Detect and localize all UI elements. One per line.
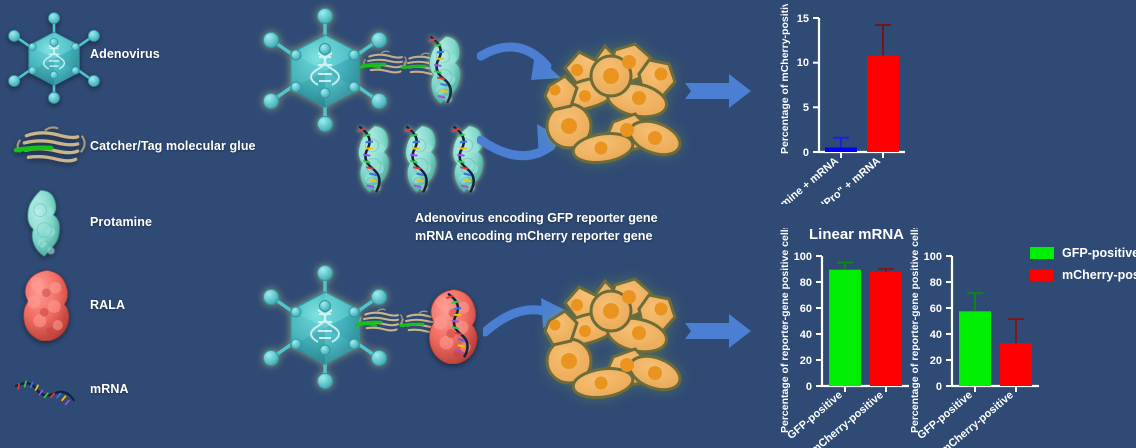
legend-entry-gfp: GFP-positive bbox=[1030, 244, 1136, 261]
legend-label-gfp: GFP-positive bbox=[1062, 246, 1136, 260]
legend-label-mcherry: mCherry-positive bbox=[1062, 268, 1136, 282]
chart1-bar-adpro bbox=[867, 56, 899, 153]
chart2-ytick-0: 0 bbox=[806, 381, 812, 393]
chart2-errorbar-gfp bbox=[837, 263, 853, 270]
chart-circular-mrna: Percentage of reporter-gene positive cel… bbox=[905, 228, 1136, 448]
legend-swatch-mcherry bbox=[1030, 269, 1054, 281]
chart2-ytick-20: 20 bbox=[800, 355, 812, 367]
center-schematic: Adenovirus encoding GFP reporter gene mR… bbox=[255, 0, 775, 448]
key-label-rala: RALA bbox=[90, 298, 125, 312]
straight-arrow-top bbox=[685, 72, 753, 117]
chart2-bar-mcherry bbox=[870, 272, 902, 386]
key-label-adenovirus: Adenovirus bbox=[90, 47, 160, 61]
center-caption-line2: mRNA encoding mCherry reporter gene bbox=[415, 228, 652, 245]
key-label-mrna: mRNA bbox=[90, 382, 129, 396]
chart3-bar-mcherry bbox=[1000, 343, 1032, 386]
chart2-ytick-60: 60 bbox=[800, 303, 812, 315]
chart3-ytick-100: 100 bbox=[924, 251, 942, 263]
chart3-ytick-0: 0 bbox=[936, 381, 942, 393]
transfected-cell-cluster-top bbox=[529, 30, 689, 175]
protamine-icon bbox=[22, 188, 68, 260]
chart3-errorbar-gfp bbox=[967, 293, 983, 311]
chart3-ytick-60: 60 bbox=[930, 303, 942, 315]
chart3-errorbar-mcherry bbox=[1008, 319, 1024, 343]
protamine-mrna-particle-attached bbox=[423, 34, 469, 113]
key-label-protamine: Protamine bbox=[90, 215, 152, 229]
chart3-ytick-20: 20 bbox=[930, 355, 942, 367]
graphical-abstract-figure: Adenovirus Catcher/Tag molecular glue Pr… bbox=[0, 0, 1136, 448]
key-label-molecular-glue: Catcher/Tag molecular glue bbox=[90, 139, 256, 153]
chart1-errorbar-protamine bbox=[833, 138, 849, 148]
key-item-adenovirus: Adenovirus bbox=[0, 10, 260, 106]
legend-entry-mcherry: mCherry-positive bbox=[1030, 266, 1136, 283]
center-caption-line1: Adenovirus encoding GFP reporter gene bbox=[415, 210, 658, 227]
chart3-ylabel: Percentage of reporter-gene positive cel… bbox=[909, 228, 921, 433]
rala-mrna-particle bbox=[423, 288, 485, 369]
legend-key-column: Adenovirus Catcher/Tag molecular glue Pr… bbox=[0, 0, 260, 448]
chart2-ytick-100: 100 bbox=[794, 251, 812, 263]
key-item-mrna: mRNA bbox=[0, 352, 260, 448]
chart3-bar-gfp bbox=[959, 311, 991, 386]
chart2-errorbar-mcherry bbox=[878, 269, 894, 272]
rala-icon bbox=[18, 269, 76, 341]
transfected-cell-cluster-bottom bbox=[529, 265, 689, 410]
chart2-bar-gfp bbox=[829, 270, 861, 386]
mrna-icon bbox=[20, 358, 74, 420]
straight-arrow-bottom bbox=[685, 312, 753, 357]
chart1-ylabel: Percentage of mCherry-positive cells bbox=[779, 4, 791, 154]
chart-mcherry-uptake: Percentage of mCherry-positive cells 0 5… bbox=[775, 4, 955, 204]
chart1-bar-protamine bbox=[825, 148, 857, 153]
key-item-protamine: Protamine bbox=[0, 182, 260, 278]
chart2-ylabel: Percentage of reporter-gene positive cel… bbox=[779, 228, 791, 433]
chart3-ytick-80: 80 bbox=[930, 277, 942, 289]
chart2-ytick-40: 40 bbox=[800, 329, 812, 341]
key-item-rala: RALA bbox=[0, 265, 260, 361]
chart1-ytick-5: 5 bbox=[803, 102, 809, 114]
chart1-ytick-0: 0 bbox=[803, 147, 809, 159]
adenovirus-icon bbox=[6, 8, 102, 108]
chart1-errorbar-adpro bbox=[875, 25, 891, 56]
chart-linear-mrna: Linear mRNA Percentage of reporter-gene … bbox=[775, 228, 925, 448]
chart1-ytick-10: 10 bbox=[797, 57, 809, 69]
chart3-legend: GFP-positive mCherry-positive bbox=[1030, 244, 1136, 288]
legend-swatch-gfp bbox=[1030, 247, 1054, 259]
chart3-ytick-40: 40 bbox=[930, 329, 942, 341]
chart1-ytick-15: 15 bbox=[797, 13, 809, 25]
molecular-glue-icon bbox=[10, 122, 92, 170]
chart2-ytick-80: 80 bbox=[800, 277, 812, 289]
